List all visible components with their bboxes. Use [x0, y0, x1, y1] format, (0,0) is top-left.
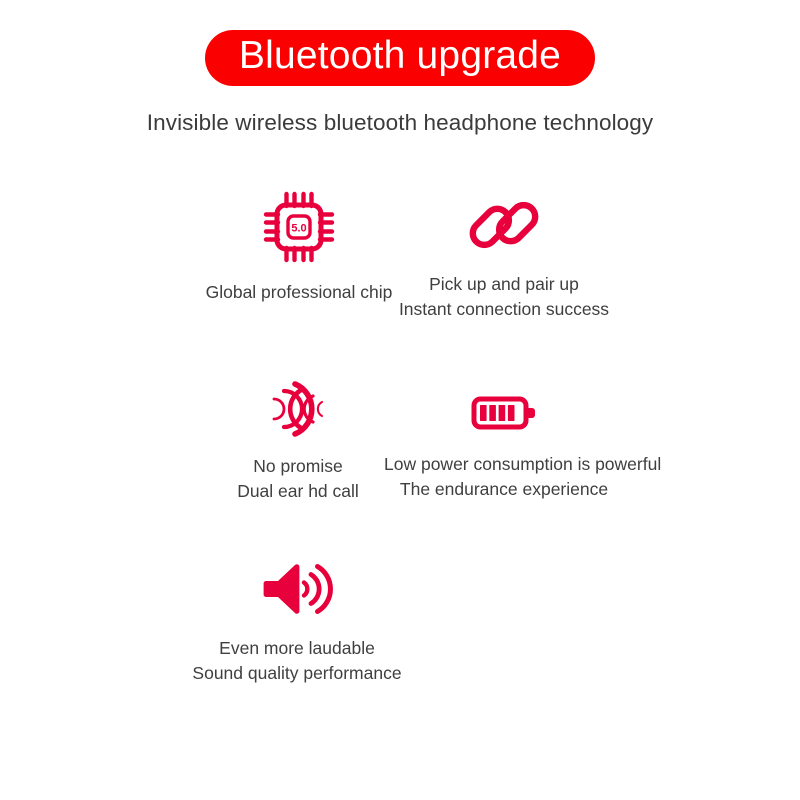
feature-sound-quality-performance: Even more laudable Sound quality perform…: [190, 556, 404, 686]
chip-icon-container: 5.0: [193, 188, 405, 266]
promo-page: Bluetooth upgrade Invisible wireless blu…: [0, 0, 800, 800]
link-caption: Pick up and pair up Instant connection s…: [398, 272, 610, 322]
signal-icon-container: [192, 378, 404, 440]
banner-title: Bluetooth upgrade: [205, 30, 595, 86]
feature-pick-up-and-pair-up: Pick up and pair up Instant connection s…: [398, 186, 610, 322]
signal-caption-line-2: Dual ear hd call: [192, 479, 404, 504]
battery-level-bars: [480, 405, 515, 421]
chip-caption-line-1: Global professional chip: [193, 280, 405, 305]
cpu-chip-icon: 5.0: [263, 191, 335, 263]
battery-icon-container: [384, 388, 624, 438]
link-caption-line-2: Instant connection success: [398, 297, 610, 322]
battery-caption: Low power consumption is powerful The en…: [384, 452, 624, 502]
feature-no-promise-dual-ear-hd-call: No promise Dual ear hd call: [192, 378, 404, 504]
signal-caption: No promise Dual ear hd call: [192, 454, 404, 504]
speaker-cone: [264, 564, 300, 613]
sound-caption-line-2: Sound quality performance: [190, 661, 404, 686]
sound-caption: Even more laudable Sound quality perform…: [190, 636, 404, 686]
battery-caption-line-2: The endurance experience: [384, 477, 624, 502]
battery-full-icon: [471, 394, 537, 432]
sound-icon-container: [190, 556, 404, 622]
link-icon-container: [398, 186, 610, 264]
chain-link-icon: [473, 190, 535, 260]
link-caption-line-1: Pick up and pair up: [398, 272, 610, 297]
signal-caption-line-1: No promise: [192, 454, 404, 479]
battery-terminal: [529, 408, 536, 418]
header-banner: Bluetooth upgrade: [0, 30, 800, 86]
page-subtitle: Invisible wireless bluetooth headphone t…: [0, 110, 800, 136]
bidirectional-signal-waves-icon: [259, 381, 337, 437]
speaker-volume-icon: [262, 560, 332, 618]
chip-version-badge: 5.0: [291, 222, 306, 234]
feature-low-power-consumption: Low power consumption is powerful The en…: [384, 388, 624, 502]
chip-caption: Global professional chip: [193, 280, 405, 305]
sound-caption-line-1: Even more laudable: [190, 636, 404, 661]
battery-caption-line-1: Low power consumption is powerful: [384, 452, 624, 477]
feature-global-professional-chip: 5.0 Global professional chip: [193, 188, 405, 305]
speaker-sound-waves: [304, 567, 330, 612]
